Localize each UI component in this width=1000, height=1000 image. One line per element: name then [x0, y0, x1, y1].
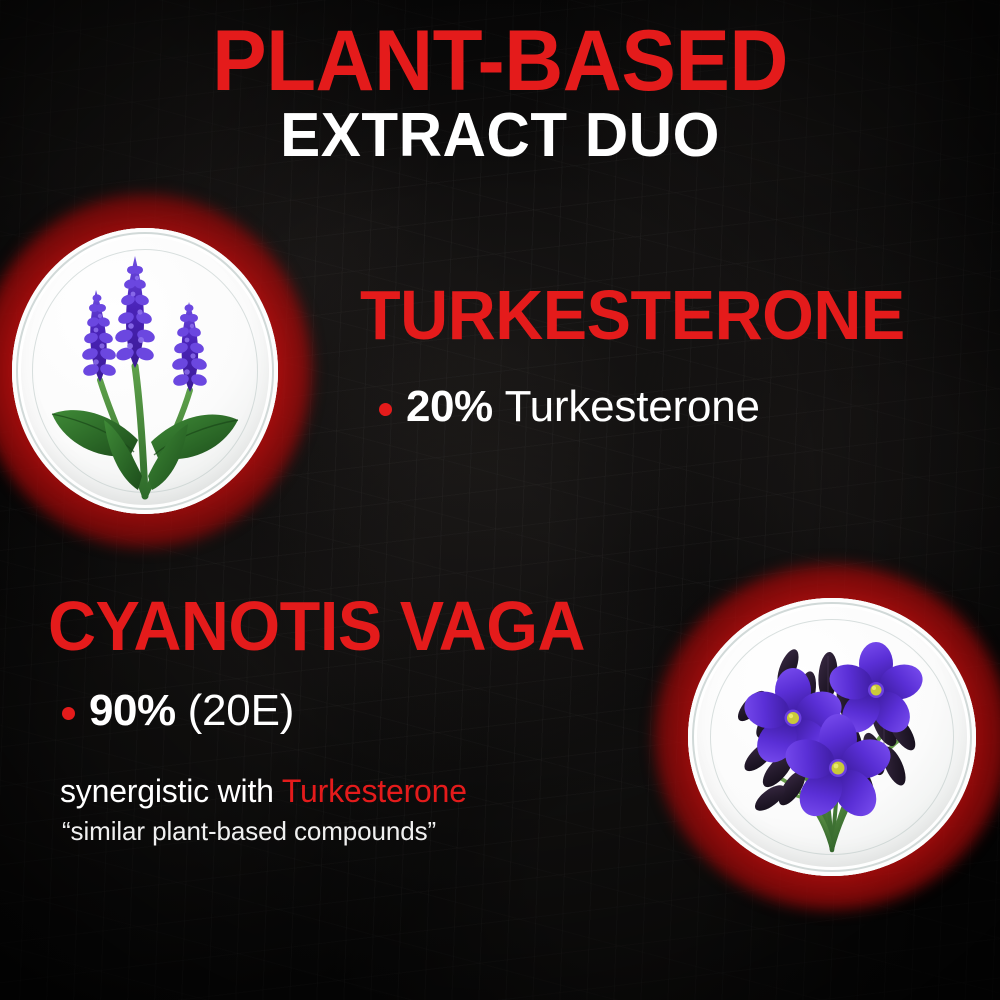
potency-label: Turkesterone	[505, 382, 760, 432]
synergy-note: synergistic with Turkesterone	[60, 773, 467, 810]
headline-block: PLANT-BASED EXTRACT DUO	[0, 22, 1000, 171]
potency-row-turkesterone: 20% Turkesterone	[379, 382, 760, 432]
potency-label: (20E)	[188, 686, 295, 736]
bullet-dot-icon	[62, 707, 75, 720]
product-image-turkesterone	[12, 228, 278, 514]
product-title-turkesterone: TURKESTERONE	[360, 280, 905, 350]
bullet-dot-icon	[379, 403, 392, 416]
headline-secondary: EXTRACT DUO	[15, 101, 985, 170]
salvia-plant-illustration	[12, 228, 278, 514]
potency-value: 20%	[406, 382, 493, 432]
potency-row-cyanotis-vaga: 90% (20E)	[62, 686, 294, 736]
compound-quote: “similar plant-based compounds”	[62, 816, 436, 847]
potency-value: 90%	[89, 686, 176, 736]
poster-canvas: PLANT-BASED EXTRACT DUO	[0, 0, 1000, 1000]
synergy-note-accent: Turkesterone	[282, 773, 467, 809]
headline-primary: PLANT-BASED	[25, 22, 975, 101]
product-image-cyanotis-vaga	[688, 598, 976, 876]
synergy-note-prefix: synergistic with	[60, 773, 282, 809]
cyanotis-plant-illustration	[688, 598, 976, 876]
product-title-cyanotis-vaga: CYANOTIS VAGA	[48, 591, 585, 661]
